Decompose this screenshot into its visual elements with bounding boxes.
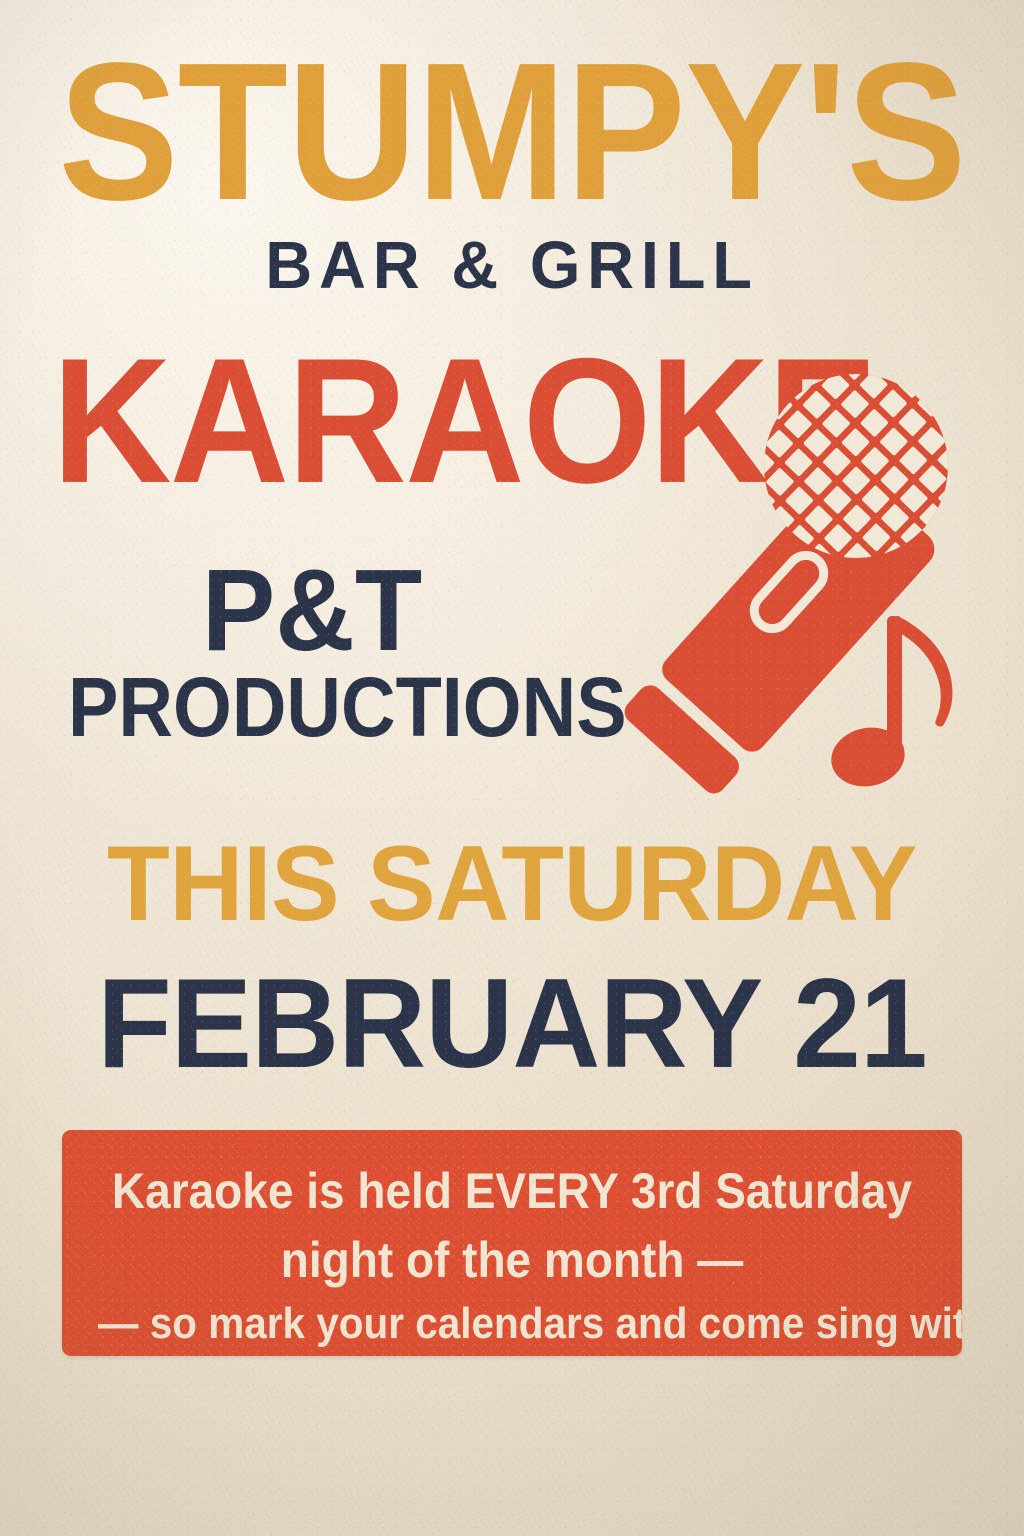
venue-name: STUMPY'S xyxy=(41,34,983,230)
poster-content: STUMPY'S BAR & GRILL KARAOKE xyxy=(0,0,1024,1536)
event-day-label: THIS SATURDAY xyxy=(20,830,1003,937)
recurring-schedule-banner: Karaoke is held EVERY 3rd Saturday night… xyxy=(62,1130,962,1356)
host-name-primary: P&T xyxy=(65,552,559,668)
microphone-icon xyxy=(598,358,998,813)
venue-subtitle: BAR & GRILL xyxy=(15,232,1008,299)
karaoke-poster: STUMPY'S BAR & GRILL KARAOKE xyxy=(0,0,1024,1536)
host-name-secondary: PRODUCTIONS xyxy=(68,665,572,749)
banner-line-1: Karaoke is held EVERY 3rd Saturday xyxy=(98,1166,926,1216)
banner-line-3: — so mark your calendars and come sing w… xyxy=(98,1302,926,1346)
banner-line-2: night of the month — xyxy=(98,1235,926,1285)
event-date-label: FEBRUARY 21 xyxy=(20,960,1003,1087)
